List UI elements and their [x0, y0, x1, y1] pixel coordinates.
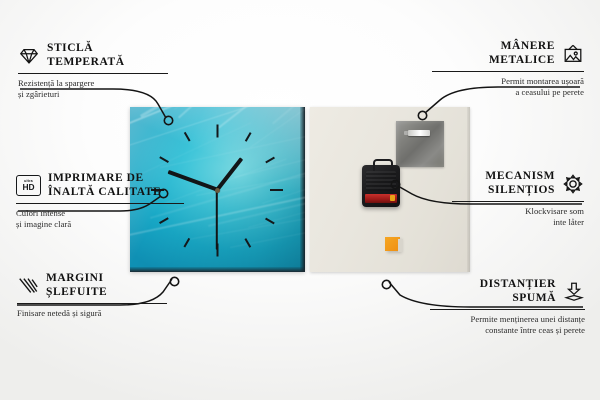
foam-spacer [385, 237, 400, 251]
ultra-hd-icon: ultra HD [16, 175, 41, 196]
callout-sticla-temperata: STICLĂ TEMPERATĂ Rezistență la spargere … [18, 42, 168, 100]
clock-mechanism [362, 165, 400, 207]
callout-header: DISTANȚIER SPUMĂ [430, 278, 585, 305]
callout-manere-metalice: MÂNERE METALICE Permit montarea ușoară a… [432, 40, 584, 98]
callout-desc-line2: constante între ceas și perete [430, 325, 585, 336]
mechanism-hook [373, 159, 393, 171]
callout-header: MECANISM SILENȚIOS [452, 170, 584, 197]
callout-desc-line1: Klockvisare som [452, 206, 584, 217]
callout-desc-line2: și imagine clară [16, 219, 184, 230]
callout-title: MÂNERE METALICE [432, 40, 555, 67]
picture-hanger-icon [562, 43, 584, 65]
foam-spacer-icon [563, 281, 585, 303]
callout-title: DISTANȚIER SPUMĂ [430, 278, 556, 305]
polished-edges-icon [17, 275, 39, 297]
clock-hour-marker [270, 189, 283, 191]
callout-header: ultra HD IMPRIMARE DE ÎNALTĂ CALITATE [16, 172, 184, 199]
clock-second-hand [216, 190, 218, 250]
infographic-canvas: STICLĂ TEMPERATĂ Rezistență la spargere … [0, 0, 600, 400]
callout-mecanism-silentios: MECANISM SILENȚIOS Klockvisar [452, 170, 584, 228]
clock-back-panel [310, 107, 470, 272]
callout-desc-line1: Permite menținerea unei distanțe [430, 314, 585, 325]
callout-desc-line1: Finisare netedă și sigură [17, 308, 167, 319]
callout-divider [17, 303, 167, 304]
callout-title: IMPRIMARE DE ÎNALTĂ CALITATE [48, 172, 161, 199]
callout-header: MARGINI ȘLEFUITE [17, 272, 167, 299]
callout-divider [452, 201, 584, 202]
callout-title: STICLĂ TEMPERATĂ [47, 42, 125, 69]
callout-desc-line1: Culori intense [16, 208, 184, 219]
callout-header: STICLĂ TEMPERATĂ [18, 42, 168, 69]
callout-desc-line1: Permit montarea ușoară [432, 76, 584, 87]
callout-divider [18, 73, 168, 74]
callout-desc-line2: a ceasului pe perete [432, 87, 584, 98]
callout-desc-line2: și zgârieturi [18, 89, 168, 100]
battery [365, 194, 397, 203]
clock-hour-marker [216, 124, 218, 137]
diamond-icon [18, 45, 40, 67]
callout-desc-line1: Rezistență la spargere [18, 78, 168, 89]
callout-divider [16, 203, 184, 204]
callout-title: MARGINI ȘLEFUITE [46, 272, 107, 299]
hanger-slot [408, 130, 430, 136]
metal-hanger-plate [396, 121, 444, 167]
callout-header: MÂNERE METALICE [432, 40, 584, 67]
ultra-hd-icon-hd-text: HD [22, 183, 34, 192]
callout-margini-slefuite: MARGINI ȘLEFUITE Finisare netedă și sigu… [17, 272, 167, 319]
callout-desc-line2: inte låter [452, 217, 584, 228]
callout-title: MECANISM SILENȚIOS [452, 170, 555, 197]
gear-icon [562, 173, 584, 195]
callout-imprimare-calitate: ultra HD IMPRIMARE DE ÎNALTĂ CALITATE Cu… [16, 172, 184, 230]
callout-distantier-spuma: DISTANȚIER SPUMĂ Permite menținerea unei… [430, 278, 585, 336]
clock-center-pin [215, 188, 220, 193]
callout-divider [432, 71, 584, 72]
mechanism-body-texture [366, 171, 396, 191]
callout-divider [430, 309, 585, 310]
